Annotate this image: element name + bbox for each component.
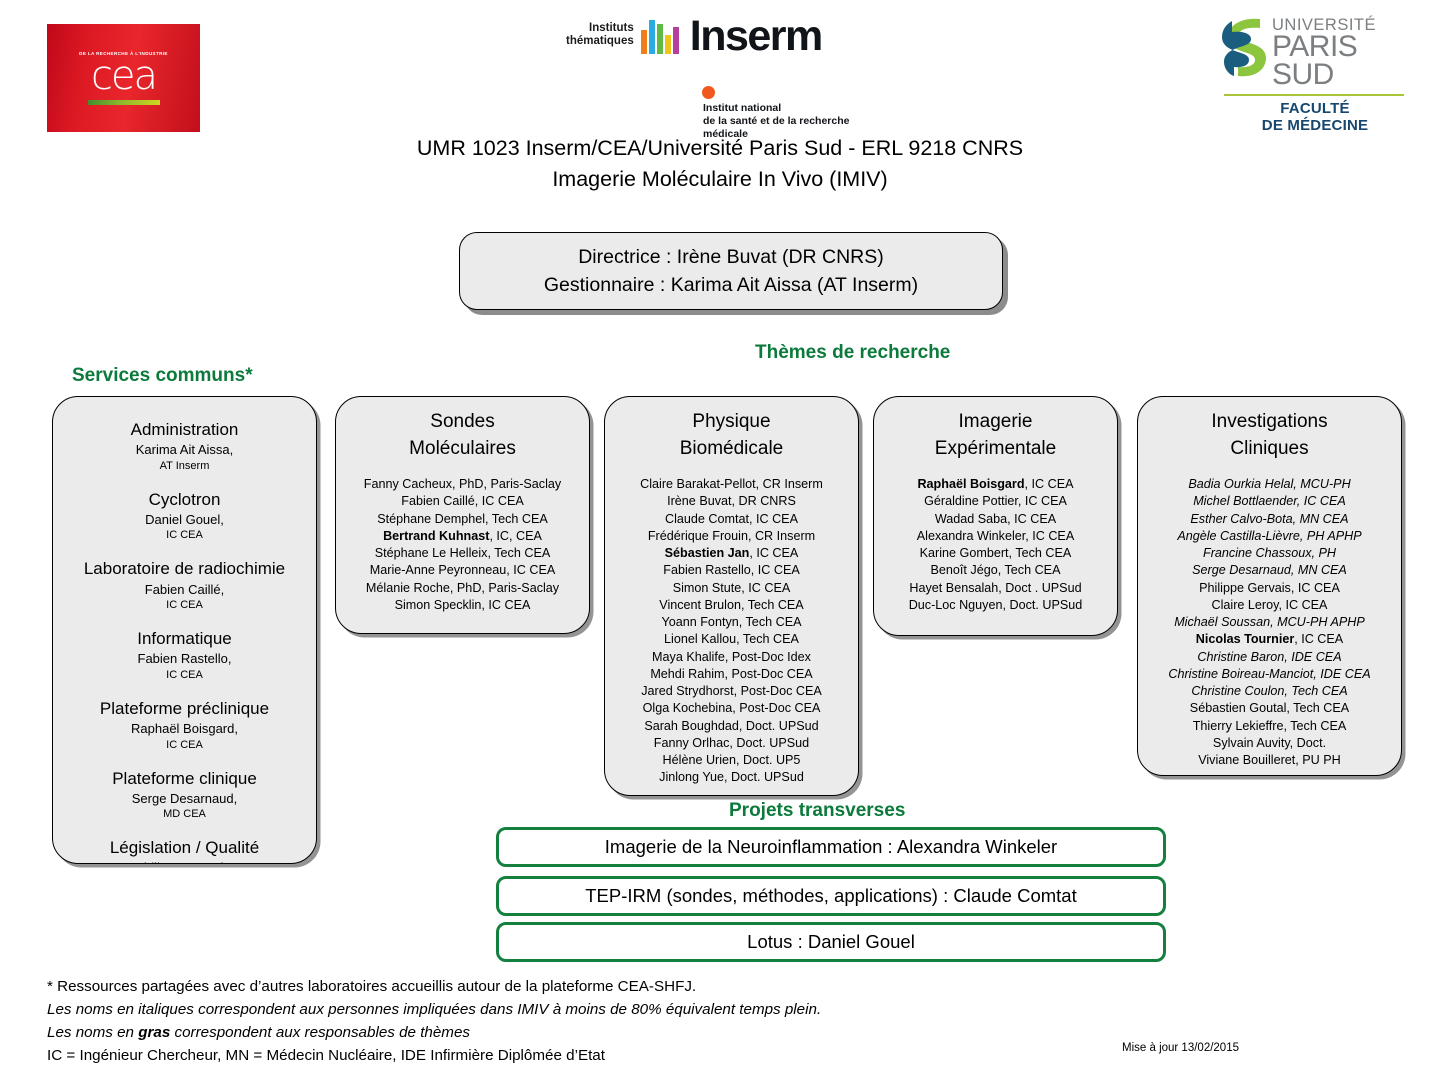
theme-title: Imagerie Expérimentale [874, 397, 1117, 462]
theme-member: Fabien Rastello, IC CEA [611, 562, 852, 579]
service-name: Laboratoire de radiochimie [57, 558, 312, 580]
theme-member: Olga Kochebina, Post-Doc CEA [611, 700, 852, 717]
ups-s-mark-icon [1222, 16, 1268, 78]
services-communs-box: AdministrationKarima Ait Aissa, AT Inser… [52, 396, 317, 864]
theme-member: Stéphane Le Helleix, Tech CEA [342, 545, 583, 562]
theme-member: Viviane Bouilleret, PU PH [1144, 752, 1395, 769]
heading-themes-de-recherche: Thèmes de recherche [755, 342, 950, 364]
inserm-sub-line1: Institut national [703, 102, 886, 115]
theme-member: Benoît Jégo, Tech CEA [880, 562, 1111, 579]
theme-member: Alexandra Winkeler, IC CEA [880, 528, 1111, 545]
theme-member: Badia Ourkia Helal, MCU-PH [1144, 476, 1395, 493]
services-list: AdministrationKarima Ait Aissa, AT Inser… [53, 397, 316, 864]
theme-member: Sarah Boughdad, Doct. UPSud [611, 718, 852, 735]
service-group: Laboratoire de radiochimieFabien Caillé,… [57, 558, 312, 613]
inserm-instituts-line1: Instituts [566, 22, 634, 35]
theme-member: Frédérique Frouin, CR Inserm [611, 528, 852, 545]
service-name: Plateforme préclinique [57, 698, 312, 720]
theme-member: Yoann Fontyn, Tech CEA [611, 614, 852, 631]
projet-transverse-item: Imagerie de la Neuroinflammation : Alexa… [496, 827, 1166, 867]
service-name: Informatique [57, 628, 312, 650]
inserm-instituts-line2: thématiques [566, 35, 634, 48]
theme-member: Hélène Urien, Doct. UP5 [611, 752, 852, 769]
theme-roster: Fanny Cacheux, PhD, Paris-SaclayFabien C… [336, 476, 589, 614]
theme-member: Christine Coulon, Tech CEA [1144, 683, 1395, 700]
ups-divider [1224, 94, 1404, 96]
service-name: Plateforme clinique [57, 768, 312, 790]
theme-roster: Claire Barakat-Pellot, CR InsermIrène Bu… [605, 476, 858, 787]
director-box: Directrice : Irène Buvat (DR CNRS) Gesti… [459, 232, 1003, 310]
theme-member: Maya Khalife, Post-Doc Idex [611, 649, 852, 666]
service-person: Raphaël Boisgard, IC CEA [57, 720, 312, 753]
theme-member: Stéphane Demphel, Tech CEA [342, 511, 583, 528]
service-people: Daniel Gouel, IC CEA [57, 511, 312, 544]
theme-box-investigations-cliniques: Investigations Cliniques Badia Ourkia He… [1137, 396, 1402, 776]
service-person: Serge Desarnaud, MD CEA [57, 790, 312, 823]
theme-member: Hayet Bensalah, Doct . UPSud [880, 580, 1111, 597]
theme-member: Mélanie Roche, PhD, Paris-Saclay [342, 580, 583, 597]
page-title-line1: UMR 1023 Inserm/CEA/Université Paris Sud… [0, 133, 1440, 164]
theme-member: Mehdi Rahim, Post-Doc CEA [611, 666, 852, 683]
service-name: Administration [57, 419, 312, 441]
service-people: Serge Desarnaud, MD CEA [57, 790, 312, 823]
service-person: Fabien Caillé, IC CEA [57, 581, 312, 614]
footnote-line: * Ressources partagées avec d’autres lab… [47, 975, 1097, 998]
service-person-role: MD CEA [57, 807, 312, 822]
service-person-role: IC CEA [57, 528, 312, 543]
service-person-role: IC CEA [57, 738, 312, 753]
ups-sud: SUD [1272, 61, 1376, 89]
theme-member: Fanny Orlhac, Doct. UPSud [611, 735, 852, 752]
inserm-logo: Instituts thématiques Inserm Institut na… [566, 18, 886, 110]
page-title: UMR 1023 Inserm/CEA/Université Paris Sud… [0, 133, 1440, 194]
theme-box-imagerie-experimentale: Imagerie Expérimentale Raphaël Boisgard,… [873, 396, 1118, 636]
service-group: Plateforme précliniqueRaphaël Boisgard, … [57, 698, 312, 753]
footnote-line: Les noms en gras correspondent aux respo… [47, 1021, 1097, 1044]
footnote-line: IC = Ingénieur Chercheur, MN = Médecin N… [47, 1044, 1097, 1067]
theme-member: Serge Desarnaud, MN CEA [1144, 562, 1395, 579]
page-title-line2: Imagerie Moléculaire In Vivo (IMIV) [0, 164, 1440, 195]
theme-box-physique-biomedicale: Physique Biomédicale Claire Barakat-Pell… [604, 396, 859, 796]
manager-line: Gestionnaire : Karima Ait Aissa (AT Inse… [544, 271, 918, 299]
ups-names: UNIVERSITÉ PARIS SUD [1272, 16, 1376, 88]
ups-top-row: UNIVERSITÉ PARIS SUD [1222, 16, 1408, 88]
projet-transverse-item: Lotus : Daniel Gouel [496, 922, 1166, 962]
theme-member: Bertrand Kuhnast, IC, CEA [342, 528, 583, 545]
service-person: Philippe Gervais, IC CEA [57, 859, 312, 864]
service-group: Législation / QualitéPhilippe Gervais, I… [57, 837, 312, 864]
theme-title: Investigations Cliniques [1138, 397, 1401, 462]
theme-member: Claire Leroy, IC CEA [1144, 597, 1395, 614]
theme-member: Fanny Cacheux, PhD, Paris-Saclay [342, 476, 583, 493]
service-person-role: AT Inserm [57, 459, 312, 474]
theme-member: Karine Gombert, Tech CEA [880, 545, 1111, 562]
theme-member: Géraldine Pottier, IC CEA [880, 493, 1111, 510]
service-people: Philippe Gervais, IC CEAClaude Comtat, I… [57, 859, 312, 864]
footnotes: * Ressources partagées avec d’autres lab… [47, 975, 1097, 1067]
service-group: CyclotronDaniel Gouel, IC CEA [57, 489, 312, 544]
theme-member: Michaël Soussan, MCU-PH APHP [1144, 614, 1395, 631]
service-name: Législation / Qualité [57, 837, 312, 859]
theme-roster: Raphaël Boisgard, IC CEAGéraldine Pottie… [874, 476, 1117, 614]
service-person: Daniel Gouel, IC CEA [57, 511, 312, 544]
service-people: Karima Ait Aissa, AT Inserm [57, 441, 312, 474]
update-date: Mise à jour 13/02/2015 [1122, 1042, 1239, 1054]
service-person: Fabien Rastello, IC CEA [57, 650, 312, 683]
inserm-top-row: Instituts thématiques Inserm [566, 18, 886, 54]
theme-member: Duc-Loc Nguyen, Doct. UPSud [880, 597, 1111, 614]
service-person-role: IC CEA [57, 598, 312, 613]
theme-member: Raphaël Boisgard, IC CEA [880, 476, 1111, 493]
theme-member: Irène Buvat, DR CNRS [611, 493, 852, 510]
ups-faculte: FACULTÉ DE MÉDECINE [1222, 101, 1408, 135]
service-people: Raphaël Boisgard, IC CEA [57, 720, 312, 753]
theme-member: Thierry Lekieffre, Tech CEA [1144, 718, 1395, 735]
cea-gradient-bar [88, 100, 160, 105]
theme-member: Simon Specklin, IC CEA [342, 597, 583, 614]
theme-member: Nicolas Tournier, IC CEA [1144, 631, 1395, 648]
service-group: AdministrationKarima Ait Aissa, AT Inser… [57, 419, 312, 474]
theme-title: Sondes Moléculaires [336, 397, 589, 462]
theme-member: Marie-Anne Peyronneau, IC CEA [342, 562, 583, 579]
inserm-dot-icon [702, 86, 715, 99]
theme-roster: Badia Ourkia Helal, MCU-PHMichel Bottlae… [1138, 476, 1401, 769]
director-line: Directrice : Irène Buvat (DR CNRS) [578, 243, 884, 271]
theme-member: Philippe Gervais, IC CEA [1144, 580, 1395, 597]
theme-member: Michel Bottlaender, IC CEA [1144, 493, 1395, 510]
theme-member: Christine Boireau-Manciot, IDE CEA [1144, 666, 1395, 683]
service-group: Plateforme cliniqueSerge Desarnaud, MD C… [57, 768, 312, 823]
universite-paris-sud-logo: UNIVERSITÉ PARIS SUD FACULTÉ DE MÉDECINE [1222, 16, 1408, 126]
theme-box-sondes-moleculaires: Sondes Moléculaires Fanny Cacheux, PhD, … [335, 396, 590, 634]
cea-wordmark: cea [91, 60, 156, 92]
service-people: Fabien Caillé, IC CEA [57, 581, 312, 614]
theme-member: Jinlong Yue, Doct. UPSud [611, 769, 852, 786]
theme-member: Francine Chassoux, PH [1144, 545, 1395, 562]
service-people: Fabien Rastello, IC CEA [57, 650, 312, 683]
heading-services-communs: Services communs* [72, 365, 253, 387]
inserm-instituts-thematiques: Instituts thématiques [566, 22, 634, 54]
theme-member: Wadad Saba, IC CEA [880, 511, 1111, 528]
ups-faculte-line1: FACULTÉ [1222, 101, 1408, 118]
theme-member: Vincent Brulon, Tech CEA [611, 597, 852, 614]
theme-title: Physique Biomédicale [605, 397, 858, 462]
heading-projets-transverses: Projets transverses [729, 800, 905, 822]
ups-paris: PARIS [1272, 33, 1376, 61]
theme-member: Lionel Kallou, Tech CEA [611, 631, 852, 648]
theme-member: Esther Calvo-Bota, MN CEA [1144, 511, 1395, 528]
theme-member: Sébastien Jan, IC CEA [611, 545, 852, 562]
inserm-color-bars-icon [641, 18, 679, 54]
theme-member: Claude Comtat, IC CEA [611, 511, 852, 528]
theme-member: Christine Baron, IDE CEA [1144, 649, 1395, 666]
inserm-wordmark: Inserm [690, 19, 822, 54]
service-person-role: IC CEA [57, 668, 312, 683]
theme-member: Claire Barakat-Pellot, CR Inserm [611, 476, 852, 493]
theme-member: Sébastien Goutal, Tech CEA [1144, 700, 1395, 717]
service-name: Cyclotron [57, 489, 312, 511]
theme-member: Angèle Castilla-Lièvre, PH APHP [1144, 528, 1395, 545]
theme-member: Fabien Caillé, IC CEA [342, 493, 583, 510]
projet-transverse-item: TEP-IRM (sondes, méthodes, applications)… [496, 876, 1166, 916]
theme-member: Simon Stute, IC CEA [611, 580, 852, 597]
service-person: Karima Ait Aissa, AT Inserm [57, 441, 312, 474]
cea-logo: DE LA RECHERCHE À L'INDUSTRIE cea [47, 24, 200, 132]
footnote-line: Les noms en italiques correspondent aux … [47, 998, 1097, 1021]
service-group: InformatiqueFabien Rastello, IC CEA [57, 628, 312, 683]
theme-member: Jared Strydhorst, Post-Doc CEA [611, 683, 852, 700]
theme-member: Sylvain Auvity, Doct. [1144, 735, 1395, 752]
